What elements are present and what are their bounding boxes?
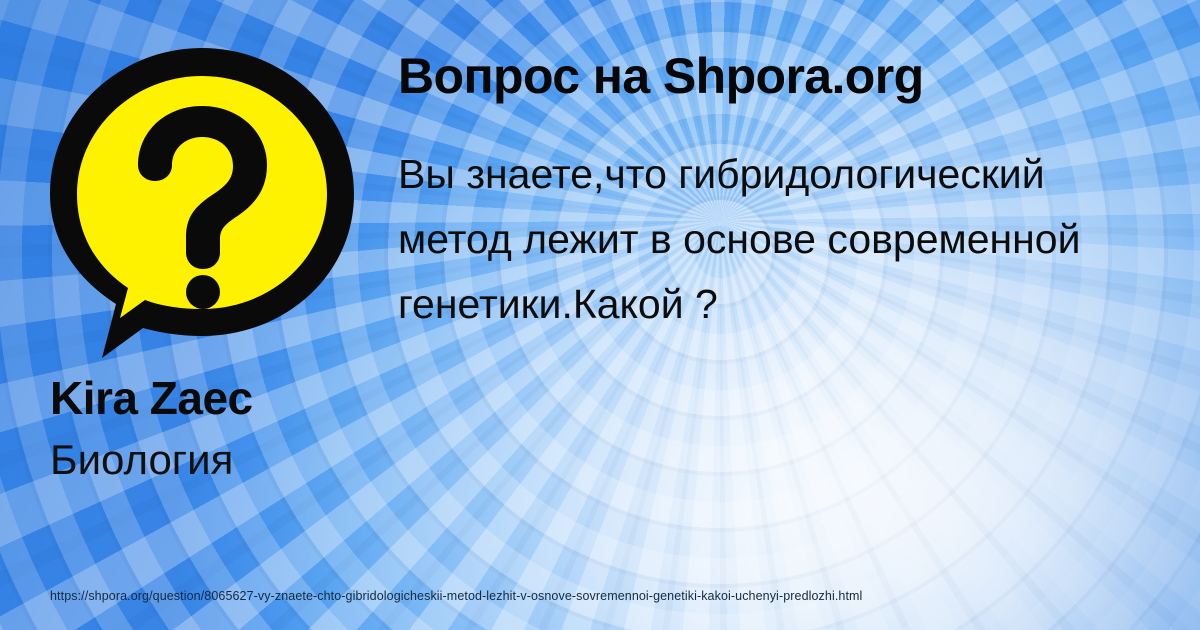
question-speech-bubble-icon (42, 36, 362, 366)
author-block: Kira Zaec Биология (50, 375, 380, 482)
page-title: Вопрос на Shpora.org (398, 48, 1178, 104)
card-content: Kira Zaec Биология Вопрос на Shpora.org … (0, 0, 1200, 630)
author-subject: Биология (50, 438, 380, 482)
author-name: Kira Zaec (50, 375, 380, 422)
share-card: Kira Zaec Биология Вопрос на Shpora.org … (0, 0, 1200, 630)
source-url[interactable]: https://shpora.org/question/8065627-vy-z… (50, 589, 862, 603)
question-text: Вы знаете,что гибридологический метод ле… (398, 142, 1158, 336)
main-column: Вопрос на Shpora.org Вы знаете,что гибри… (398, 48, 1178, 336)
question-mark-dot (186, 275, 220, 309)
